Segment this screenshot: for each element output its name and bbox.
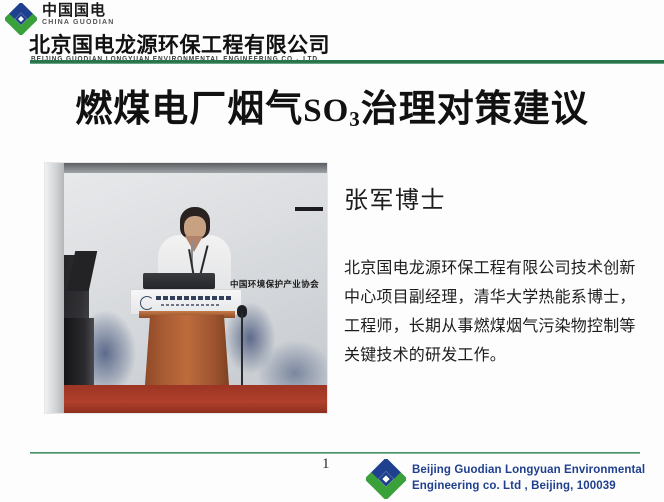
footer-company-line2: Engineering co. Ltd , Beijing, 100039 <box>412 478 645 494</box>
speaker-photo: 中国环境保护产业协会 <box>45 163 327 413</box>
guodian-diamond-logo-icon-footer <box>366 459 406 499</box>
speaker-bio: 北京国电龙源环保工程有限公司技术创新中心项目副经理，清华大学热能系博士，工程师，… <box>344 254 644 370</box>
photo-boom-arm <box>241 313 243 391</box>
photo-ceiling-band <box>63 163 327 173</box>
corp-name-cn: 中国国电 <box>42 2 106 19</box>
page-title: 燃煤电厂烟气SO3治理对策建议 <box>0 78 664 132</box>
photo-red-carpet <box>64 385 327 413</box>
photo-podium-banner-subtext <box>161 304 221 306</box>
formula-subscript: 3 <box>349 107 361 131</box>
footer-company-name: Beijing Guodian Longyuan Environmental E… <box>412 462 645 494</box>
photo-backdrop-text: 中国环境保护产业协会 <box>230 278 319 290</box>
corp-name-en: CHINA GUODIAN <box>42 19 115 26</box>
title-formula: SO3 <box>303 93 361 129</box>
photo-podium-banner-text <box>156 296 232 300</box>
photo-podium-body <box>145 315 229 385</box>
photo-laptop <box>143 273 215 289</box>
footer-company-line1: Beijing Guodian Longyuan Environmental <box>412 462 645 478</box>
slide-header: 中国国电 CHINA GUODIAN 北京国电龙源环保工程有限公司 BEIJIN… <box>0 0 664 64</box>
footer-divider <box>30 452 640 454</box>
page-number: 1 <box>322 456 330 473</box>
photo-left-wall <box>45 163 64 413</box>
title-part2: 治理对策建议 <box>361 88 589 129</box>
photo-wall-mark <box>295 207 323 211</box>
formula-main: SO <box>303 93 349 129</box>
speaker-name: 张军博士 <box>344 180 446 215</box>
photo-podium-emblem-icon <box>140 296 154 310</box>
title-part1: 燃煤电厂烟气 <box>75 88 303 129</box>
header-accent-bar <box>30 60 664 64</box>
